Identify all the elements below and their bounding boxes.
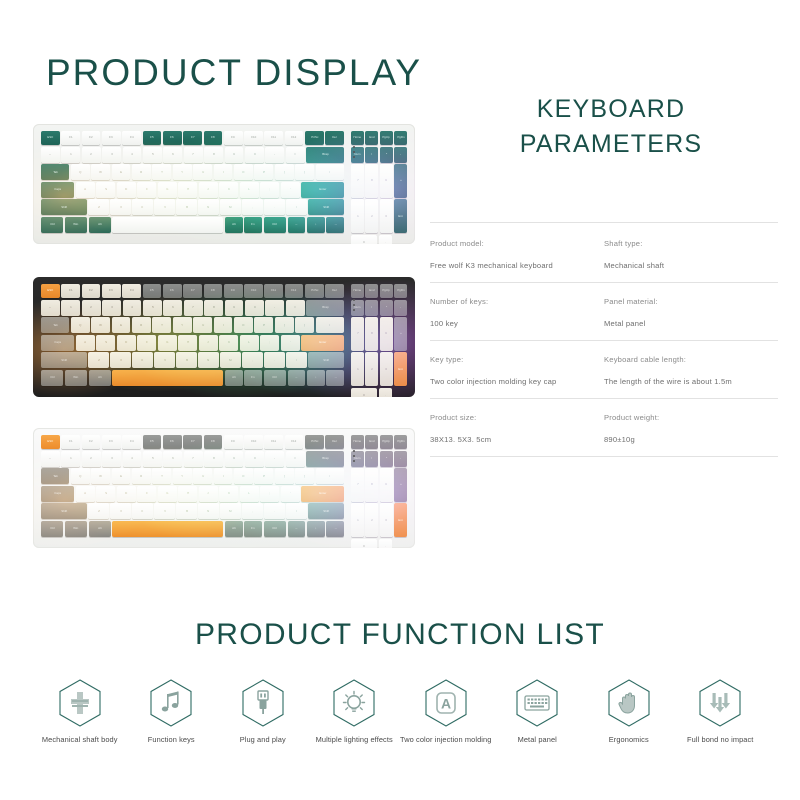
feature-item-metal-panel: Metal panel (492, 678, 584, 744)
param-value: 38X13. 5X3. 5cm (430, 435, 596, 444)
param-cell-right: Keyboard cable length: The length of the… (604, 355, 778, 386)
keyboard-image-3: ESCF1 F2F3 F4F5 F6F7 F8F9 F10F11 F12PrtS… (33, 428, 415, 548)
param-value: Mechanical shaft (604, 261, 770, 270)
param-label: Shaft type: (604, 239, 770, 248)
feature-item-mechanical-shaft-body: Mechanical shaft body (34, 678, 126, 744)
feature-label: Multiple lighting effects (316, 735, 393, 744)
feature-item-two-color-injection-molding: A Two color injection molding (400, 678, 492, 744)
feature-item-plug-and-play: Plug and play (217, 678, 309, 744)
param-label: Keyboard cable length: (604, 355, 770, 364)
music-note-icon (148, 678, 194, 728)
table-row: Product size: 38X13. 5X3. 5cm Product we… (430, 399, 778, 457)
param-value: 890±10g (604, 435, 770, 444)
status-led-group (353, 450, 355, 462)
keyboard-image-2: ESCF1 F2F3 F4F5 F6F7 F8F9 F10F11 F12PrtS… (33, 277, 415, 397)
usb-plug-icon (240, 678, 286, 728)
lightbulb-icon (331, 678, 377, 728)
page-title-product-display: PRODUCT DISPLAY (46, 52, 422, 94)
section-title-keyboard-parameters: KEYBOARD PARAMETERS (430, 92, 792, 161)
letter-a-icon: A (423, 678, 469, 728)
param-cell-left: Product size: 38X13. 5X3. 5cm (430, 413, 604, 444)
param-label: Panel material: (604, 297, 770, 306)
param-cell-left: Number of keys: 100 key (430, 297, 604, 328)
param-cell-left: Key type: Two color injection molding ke… (430, 355, 604, 386)
param-label: Key type: (430, 355, 596, 364)
feature-label: Function keys (148, 735, 195, 744)
feature-item-ergonomics: Ergonomics (583, 678, 675, 744)
feature-label: Two color injection molding (400, 735, 491, 744)
param-cell-right: Panel material: Metal panel (604, 297, 778, 328)
param-value: Metal panel (604, 319, 770, 328)
status-led-group (353, 146, 355, 158)
hand-icon (606, 678, 652, 728)
down-arrows-icon (697, 678, 743, 728)
product-display-page: PRODUCT DISPLAY KEYBOARD PARAMETERS ESCF… (0, 0, 800, 800)
param-value: Free wolf K3 mechanical keyboard (430, 261, 596, 270)
mechanical-shaft-icon (57, 678, 103, 728)
param-cell-right: Shaft type: Mechanical shaft (604, 239, 778, 270)
keyboard-parameters-line1: KEYBOARD (430, 92, 792, 127)
feature-item-full-bond-no-impact: Full bond no impact (675, 678, 767, 744)
table-row: Product model: Free wolf K3 mechanical k… (430, 222, 778, 283)
keyboard-parameters-line2: PARAMETERS (430, 127, 792, 162)
feature-item-multiple-lighting-effects: Multiple lighting effects (309, 678, 401, 744)
svg-text:A: A (441, 696, 451, 712)
feature-label: Full bond no impact (687, 735, 753, 744)
param-value: Two color injection molding key cap (430, 377, 596, 386)
param-cell-right: Product weight: 890±10g (604, 413, 778, 444)
param-value: The length of the wire is about 1.5m (604, 377, 770, 386)
param-label: Product size: (430, 413, 596, 422)
feature-label: Ergonomics (609, 735, 649, 744)
param-cell-left: Product model: Free wolf K3 mechanical k… (430, 239, 604, 270)
feature-list: Mechanical shaft body Function keys (0, 678, 800, 744)
feature-label: Plug and play (240, 735, 286, 744)
table-row: Number of keys: 100 key Panel material: … (430, 283, 778, 341)
status-led-group (353, 299, 355, 311)
feature-label: Metal panel (518, 735, 557, 744)
keyboard-parameters-table: Product model: Free wolf K3 mechanical k… (430, 222, 778, 457)
keyboard-image-1: ESCF1 F2F3 F4F5 F6F7 F8F9 F10F11 F12PrtS… (33, 124, 415, 244)
section-title-product-function-list: PRODUCT FUNCTION LIST (0, 618, 800, 652)
feature-label: Mechanical shaft body (42, 735, 118, 744)
param-label: Product model: (430, 239, 596, 248)
param-label: Product weight: (604, 413, 770, 422)
table-row: Key type: Two color injection molding ke… (430, 341, 778, 399)
param-label: Number of keys: (430, 297, 596, 306)
keyboard-icon (514, 678, 560, 728)
param-value: 100 key (430, 319, 596, 328)
feature-item-function-keys: Function keys (126, 678, 218, 744)
